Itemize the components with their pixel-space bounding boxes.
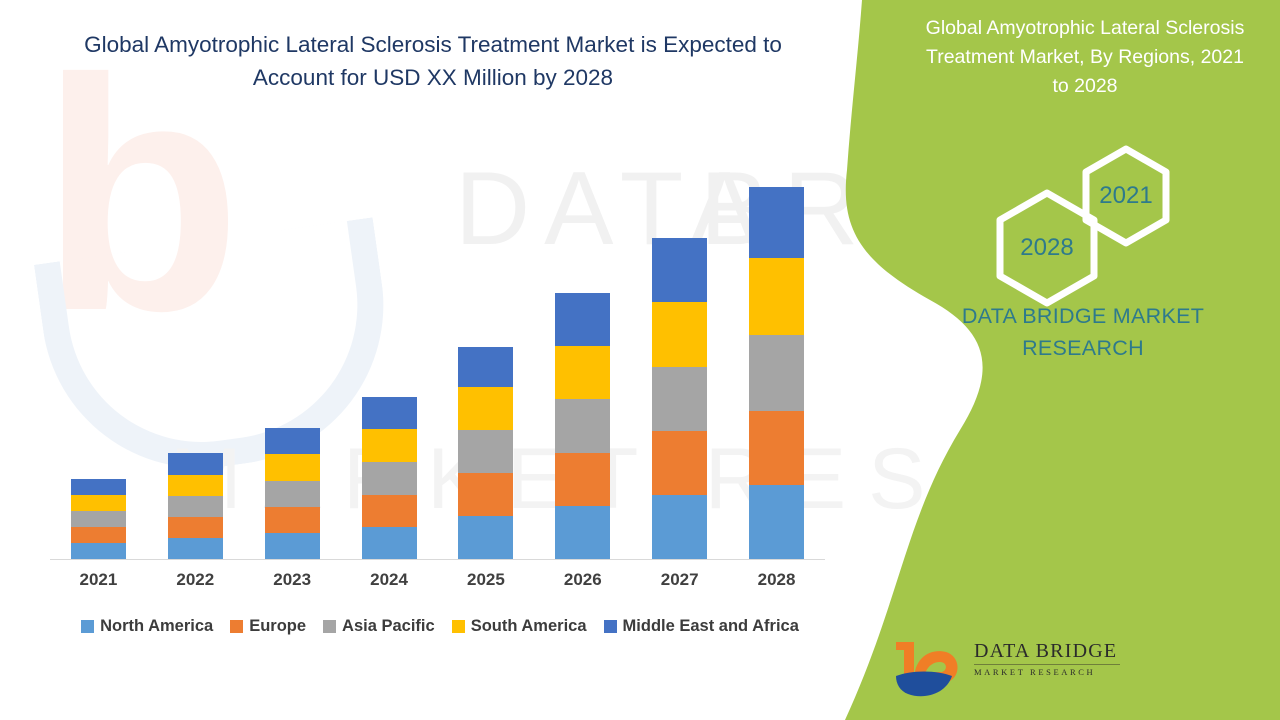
x-axis-label: 2026 xyxy=(534,570,631,590)
hexagon-badges: 2021 2028 xyxy=(930,140,1250,280)
legend-label: Middle East and Africa xyxy=(623,617,799,636)
bar-segment xyxy=(362,397,417,429)
bar-segment xyxy=(71,527,126,543)
bar-segment xyxy=(749,258,804,335)
legend-label: Europe xyxy=(249,617,306,636)
stacked-bar[interactable] xyxy=(652,238,707,559)
legend-item[interactable]: Asia Pacific xyxy=(323,617,435,636)
company-logo: DATA BRIDGE MARKET RESEARCH xyxy=(890,636,1120,702)
bar-segment xyxy=(458,430,513,473)
bar-segment xyxy=(168,517,223,538)
stacked-bar[interactable] xyxy=(265,428,320,559)
x-axis-label: 2028 xyxy=(728,570,825,590)
bar-slot xyxy=(438,160,535,559)
stacked-bar[interactable] xyxy=(168,453,223,559)
logo-tagline: MARKET RESEARCH xyxy=(974,667,1124,677)
stacked-bar[interactable] xyxy=(362,397,417,559)
bar-slot xyxy=(147,160,244,559)
bar-segment xyxy=(749,411,804,485)
x-axis-label: 2025 xyxy=(438,570,535,590)
legend-label: South America xyxy=(471,617,587,636)
bar-segment xyxy=(265,454,320,481)
x-axis-label: 2022 xyxy=(147,570,244,590)
bar-segment xyxy=(555,453,610,506)
bar-segment xyxy=(458,347,513,388)
bar-segment xyxy=(71,511,126,527)
bar-segment xyxy=(168,538,223,559)
legend-item[interactable]: Middle East and Africa xyxy=(604,617,799,636)
x-axis-label: 2024 xyxy=(341,570,438,590)
bar-slot xyxy=(631,160,728,559)
bar-segment xyxy=(362,462,417,495)
logo-divider xyxy=(974,664,1120,665)
bar-slot xyxy=(728,160,825,559)
infographic-canvas: b DATA BRIDGE MARKET RESEARCH Global Amy… xyxy=(0,0,1280,720)
bar-segment xyxy=(652,367,707,432)
legend-item[interactable]: Europe xyxy=(230,617,306,636)
bar-segment xyxy=(652,238,707,302)
stacked-bar-chart xyxy=(50,160,825,560)
stacked-bar[interactable] xyxy=(555,293,610,559)
legend-swatch-icon xyxy=(452,620,465,633)
legend-item[interactable]: North America xyxy=(81,617,213,636)
logo-name: DATA BRIDGE xyxy=(974,640,1124,663)
bar-segment xyxy=(458,516,513,559)
bar-slot xyxy=(244,160,341,559)
bar-segment xyxy=(362,429,417,462)
bar-segment xyxy=(555,293,610,346)
legend-swatch-icon xyxy=(323,620,336,633)
hexagon-label-end: 2028 xyxy=(1020,234,1073,262)
legend-swatch-icon xyxy=(230,620,243,633)
bar-segment xyxy=(555,346,610,400)
bar-segment xyxy=(652,495,707,559)
bar-segment xyxy=(265,507,320,533)
legend-swatch-icon xyxy=(81,620,94,633)
stacked-bar[interactable] xyxy=(749,187,804,559)
bar-segment xyxy=(652,302,707,367)
stacked-bar[interactable] xyxy=(71,479,126,559)
panel-brand-name: DATA BRIDGE MARKET RESEARCH xyxy=(918,300,1248,364)
bar-slot xyxy=(534,160,631,559)
bar-segment xyxy=(749,335,804,412)
bar-segment xyxy=(749,187,804,258)
panel-title: Global Amyotrophic Lateral Sclerosis Tre… xyxy=(920,14,1250,101)
legend-label: North America xyxy=(100,617,213,636)
bar-segment xyxy=(362,527,417,559)
bar-segment xyxy=(265,481,320,507)
bar-segment xyxy=(555,399,610,453)
bar-segment xyxy=(168,496,223,517)
x-axis-labels: 20212022202320242025202620272028 xyxy=(50,570,825,590)
bar-segment xyxy=(71,543,126,559)
x-axis-line xyxy=(50,559,825,560)
chart-legend: North AmericaEuropeAsia PacificSouth Ame… xyxy=(50,617,830,636)
bar-segment xyxy=(652,431,707,495)
x-axis-label: 2021 xyxy=(50,570,147,590)
x-axis-label: 2027 xyxy=(631,570,728,590)
logo-mark-icon xyxy=(890,636,968,702)
x-axis-label: 2023 xyxy=(244,570,341,590)
bar-segment xyxy=(71,479,126,495)
bar-segment xyxy=(265,533,320,559)
page-title: Global Amyotrophic Lateral Sclerosis Tre… xyxy=(48,28,818,94)
legend-label: Asia Pacific xyxy=(342,617,435,636)
bar-segment xyxy=(362,495,417,527)
chart-bars xyxy=(50,160,825,559)
bar-slot xyxy=(50,160,147,559)
bar-segment xyxy=(168,475,223,496)
bar-segment xyxy=(749,485,804,559)
bar-segment xyxy=(265,428,320,454)
bar-slot xyxy=(341,160,438,559)
bar-segment xyxy=(555,506,610,559)
panel-content: Global Amyotrophic Lateral Sclerosis Tre… xyxy=(930,0,1280,720)
hexagon-badge-2028: 2028 xyxy=(992,188,1102,308)
bar-segment xyxy=(71,495,126,511)
hexagon-label-start: 2021 xyxy=(1099,182,1152,210)
logo-wordmark: DATA BRIDGE MARKET RESEARCH xyxy=(974,640,1124,677)
bar-segment xyxy=(168,453,223,475)
legend-swatch-icon xyxy=(604,620,617,633)
legend-item[interactable]: South America xyxy=(452,617,587,636)
bar-segment xyxy=(458,387,513,430)
bar-segment xyxy=(458,473,513,516)
stacked-bar[interactable] xyxy=(458,347,513,559)
